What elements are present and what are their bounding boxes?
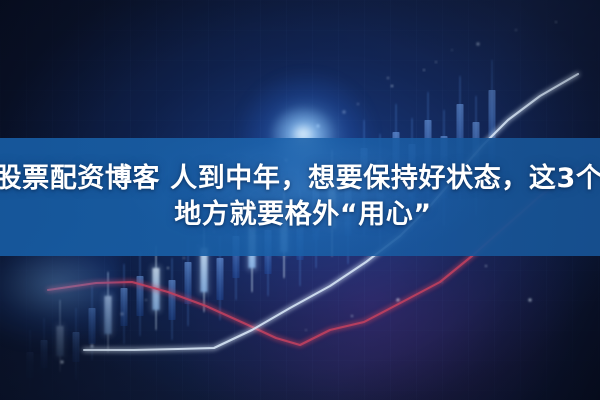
stock-banner-image: 股票配资博客 人到中年，想要保持好状态，这3个 地方就要格外“用心” bbox=[0, 0, 600, 400]
headline-block: 股票配资博客 人到中年，想要保持好状态，这3个 地方就要格外“用心” bbox=[0, 138, 600, 256]
headline-line-2: 地方就要格外“用心” bbox=[168, 198, 432, 232]
headline-line-1: 股票配资博客 人到中年，想要保持好状态，这3个 bbox=[0, 162, 600, 196]
